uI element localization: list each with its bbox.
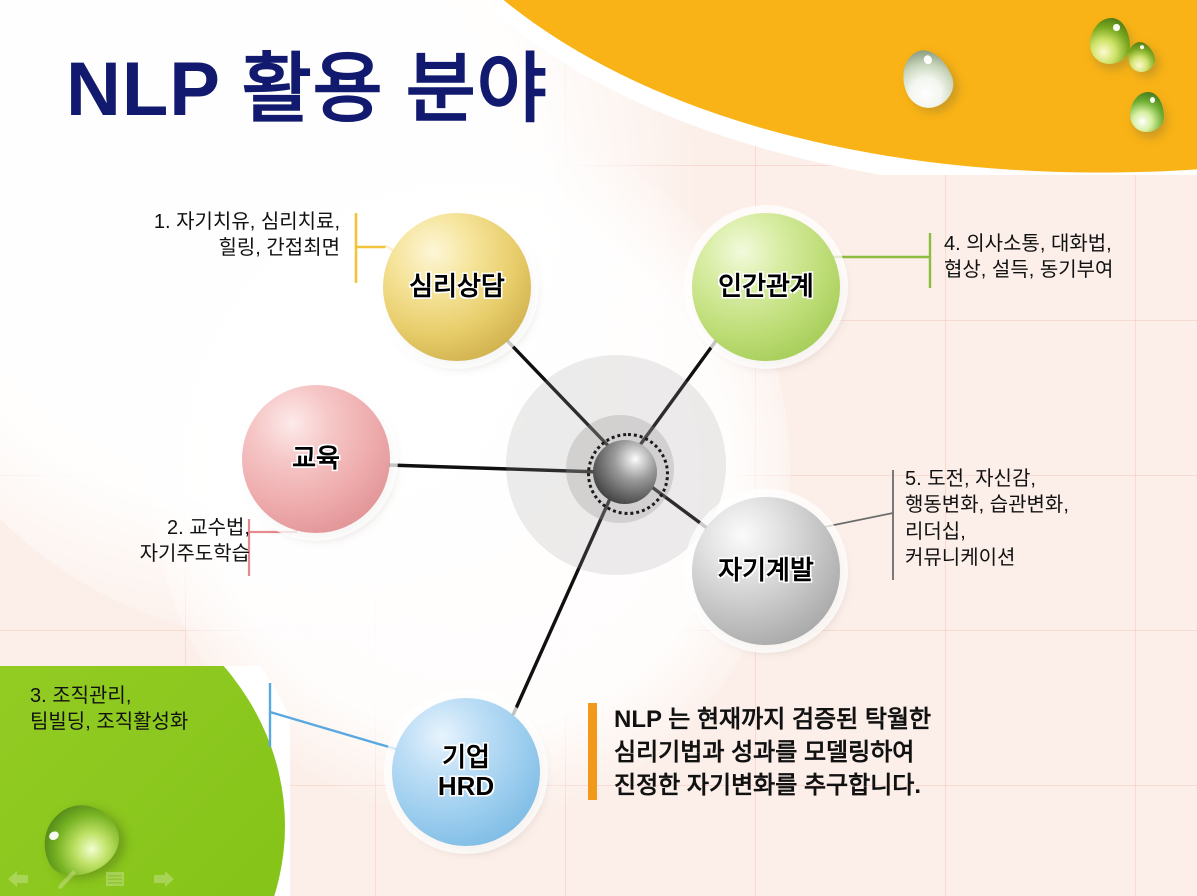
annotation-psychology: 1. 자기치유, 심리치료, 힐링, 간접최면 [70, 209, 340, 262]
node-label: 기업 HRD [438, 743, 494, 801]
node-psychology-counseling[interactable]: 심리상담 [383, 213, 531, 361]
center-hub-sphere [593, 440, 657, 504]
node-self-development[interactable]: 자기계발 [692, 497, 840, 645]
node-human-relations[interactable]: 인간관계 [692, 213, 840, 361]
annotation-organization: 3. 조직관리, 팀빌딩, 조직활성화 [30, 683, 265, 736]
annotation-communication: 4. 의사소통, 대화법, 협상, 설득, 동기부여 [944, 231, 1194, 284]
node-label: 인간관계 [718, 272, 814, 301]
node-corporate-hrd[interactable]: 기업 HRD [392, 698, 540, 846]
node-education[interactable]: 교육 [242, 385, 390, 533]
presentation-slide: NLP 활용 분야 심리상담 인간관계 교육 [0, 0, 1197, 896]
annotation-self-development: 5. 도전, 자신감, 행동변화, 습관변화, 리더십, 커뮤니케이션 [905, 466, 1155, 572]
quote-text: NLP 는 현재까지 검증된 탁월한 심리기법과 성과를 모델링하여 진정한 자… [614, 703, 1084, 802]
node-label: 심리상담 [409, 272, 505, 301]
annotation-education: 2. 교수법, 자기주도학습 [60, 515, 250, 568]
quote-accent-bar [588, 703, 597, 800]
node-label: 자기계발 [718, 556, 814, 585]
node-label: 교육 [292, 444, 340, 473]
